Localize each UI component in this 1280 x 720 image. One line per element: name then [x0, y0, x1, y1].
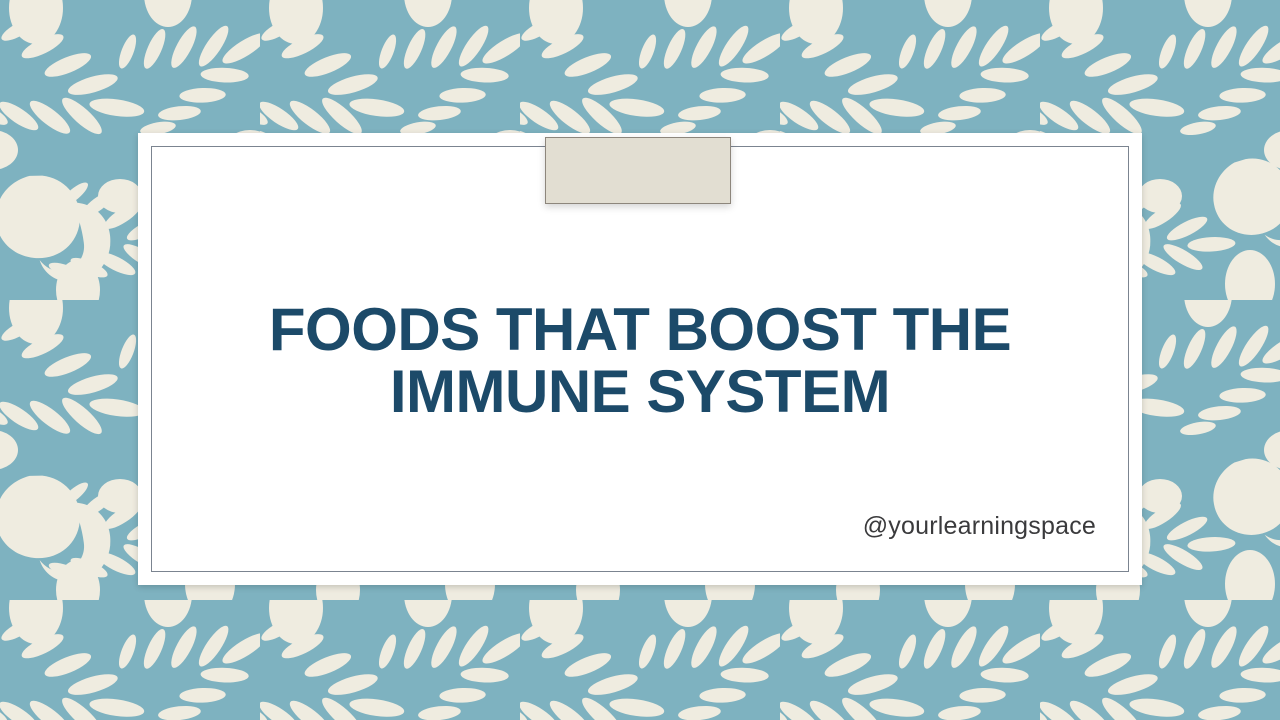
title-line-1: FOODS THAT BOOST THE [152, 299, 1128, 361]
title-line-2: IMMUNE SYSTEM [152, 361, 1128, 423]
title-card-inner-border: FOODS THAT BOOST THE IMMUNE SYSTEM @your… [151, 146, 1129, 572]
presentation-slide: FOODS THAT BOOST THE IMMUNE SYSTEM @your… [0, 0, 1280, 720]
page-title: FOODS THAT BOOST THE IMMUNE SYSTEM [152, 299, 1128, 423]
top-beige-tab [545, 137, 731, 204]
social-handle: @yourlearningspace [863, 512, 1096, 541]
